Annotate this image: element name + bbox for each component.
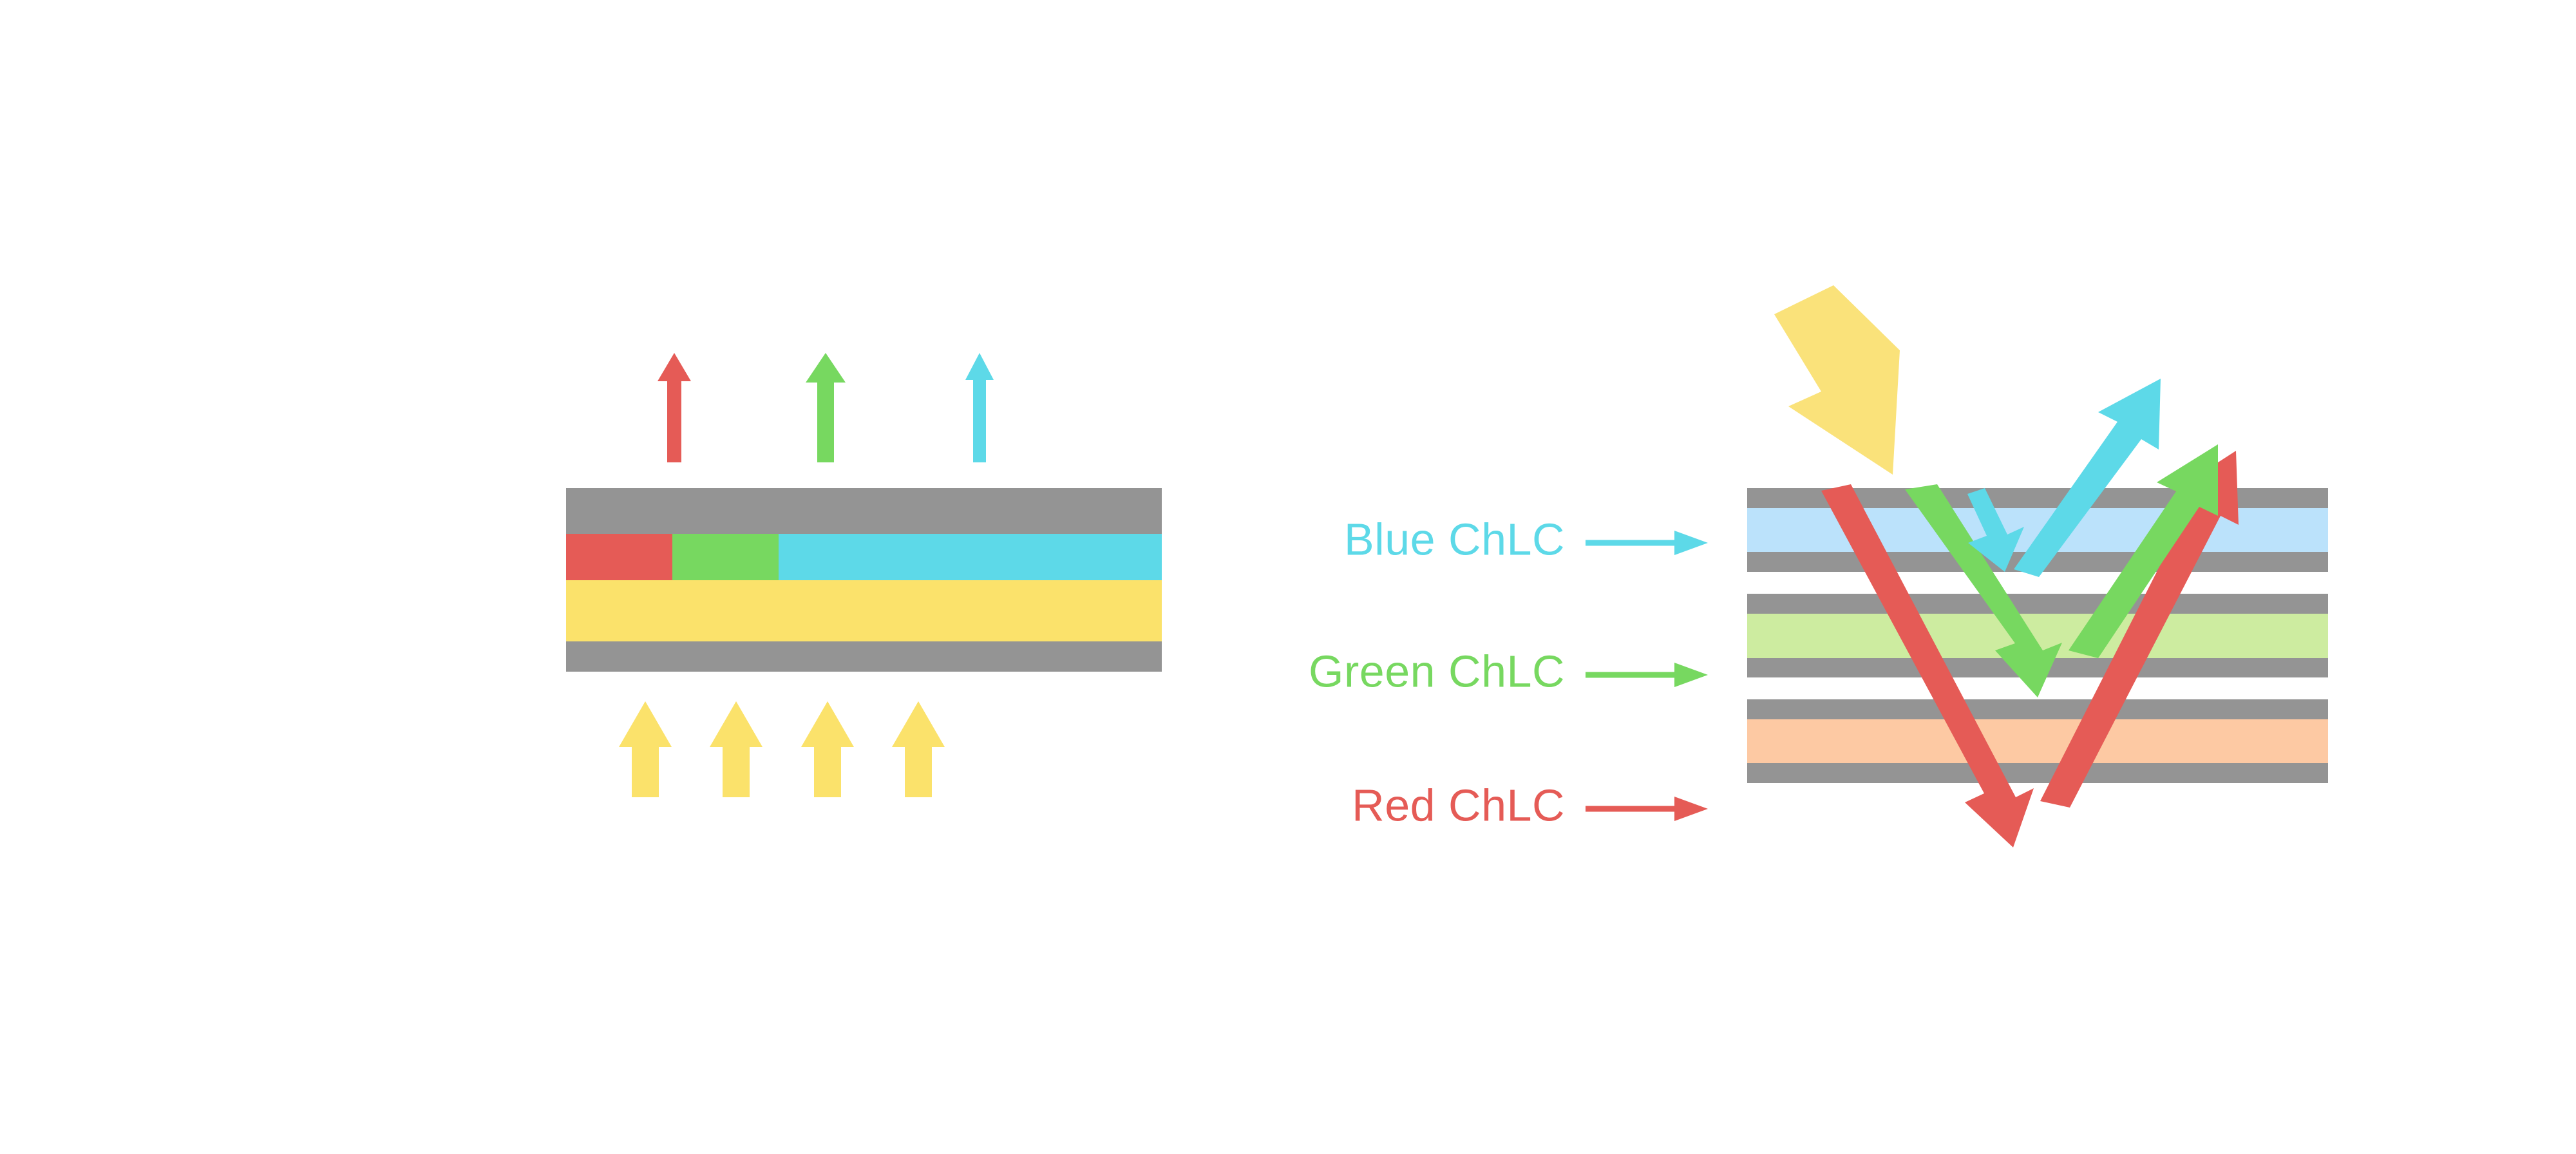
emitted-arrows-group bbox=[658, 353, 994, 462]
incident-light-arrow bbox=[1774, 285, 1900, 475]
blue-label-arrow-icon bbox=[1586, 531, 1708, 555]
green-label-arrow-icon bbox=[1586, 663, 1708, 687]
diagram-root: Blue ChLC Green ChLC Red ChLC bbox=[0, 0, 2576, 1154]
blue-subpixel bbox=[779, 534, 1162, 580]
cyan-emitted-arrow bbox=[965, 353, 994, 462]
chlc-cells bbox=[1747, 488, 2328, 783]
backlight-arrow bbox=[710, 701, 762, 797]
red-subpixel bbox=[566, 534, 672, 580]
green-subpixel bbox=[672, 534, 779, 580]
green-emitted-arrow bbox=[806, 353, 846, 462]
red-cell-bottom-electrode bbox=[1747, 763, 2328, 783]
red-chlc-cell bbox=[1747, 699, 2328, 783]
left-top-electrode bbox=[566, 488, 1162, 534]
right-panel: Blue ChLC Green ChLC Red ChLC bbox=[1309, 285, 2328, 847]
blue-chlc-label: Blue ChLC bbox=[1344, 514, 1565, 564]
backlight-arrow bbox=[892, 701, 945, 797]
rgb-subpixel-row bbox=[566, 534, 1162, 580]
chlc-diagram-canvas: Blue ChLC Green ChLC Red ChLC bbox=[0, 0, 2576, 1154]
left-stack bbox=[566, 488, 1162, 672]
red-chlc-label: Red ChLC bbox=[1352, 780, 1565, 830]
red-chlc-layer bbox=[1747, 719, 2328, 763]
red-label-arrow-icon bbox=[1586, 797, 1708, 821]
chlc-label-group: Blue ChLC Green ChLC Red ChLC bbox=[1309, 514, 1708, 830]
backlight-layer bbox=[566, 580, 1162, 641]
backlight-arrow bbox=[619, 701, 672, 797]
red-emitted-arrow bbox=[658, 353, 691, 462]
green-chlc-label: Green ChLC bbox=[1309, 646, 1565, 696]
backlight-arrows-group bbox=[619, 701, 945, 797]
left-panel bbox=[566, 353, 1162, 797]
left-bottom-electrode bbox=[566, 641, 1162, 672]
backlight-arrow bbox=[801, 701, 854, 797]
green-cell-top-electrode bbox=[1747, 594, 2328, 614]
red-cell-top-electrode bbox=[1747, 699, 2328, 719]
